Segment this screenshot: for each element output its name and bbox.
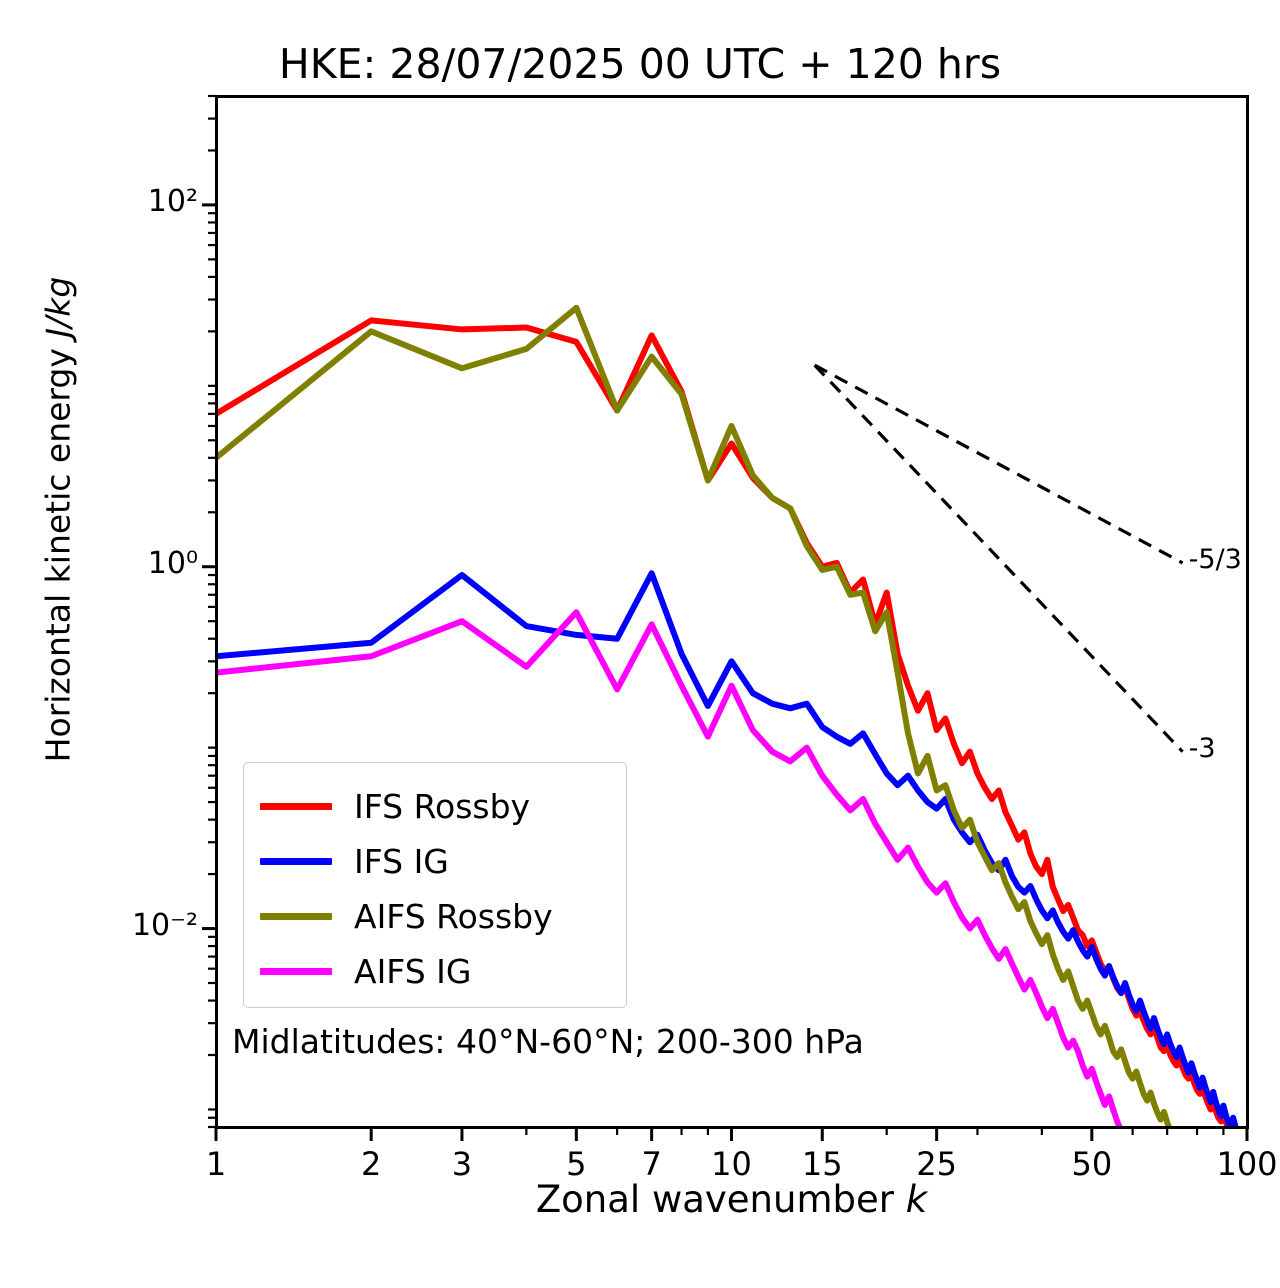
legend-label: AIFS Rossby xyxy=(354,900,553,933)
reference-slope-53 xyxy=(815,365,1183,563)
legend-swatch-icon xyxy=(260,803,332,810)
legend-label: IFS IG xyxy=(354,845,449,878)
x-tick-label: 25 xyxy=(877,1145,997,1183)
legend-label: IFS Rossby xyxy=(354,790,530,823)
reference-slope-3 xyxy=(815,365,1183,751)
x-tick-label: 1 xyxy=(156,1145,276,1183)
series-line-aifs-rossby xyxy=(216,308,1203,1194)
x-tick-label: 15 xyxy=(762,1145,882,1183)
legend-swatch-icon xyxy=(260,913,332,920)
legend-label: AIFS IG xyxy=(354,955,471,988)
x-tick-label: 50 xyxy=(1032,1145,1152,1183)
legend-item-ifs-ig[interactable]: IFS IG xyxy=(244,834,626,889)
slope-3-label: -3 xyxy=(1189,733,1216,764)
legend-swatch-icon xyxy=(260,968,332,975)
y-tick-label: 10² xyxy=(88,184,198,219)
y-tick-label: 10⁻² xyxy=(88,908,198,943)
legend-item-aifs-ig[interactable]: AIFS IG xyxy=(244,944,626,999)
legend-swatch-icon xyxy=(260,858,332,865)
y-tick-label: 10⁰ xyxy=(88,546,198,581)
legend-item-ifs-rossby[interactable]: IFS Rossby xyxy=(244,779,626,834)
reference-slope-lines xyxy=(815,365,1183,751)
x-tick-label: 100 xyxy=(1187,1145,1280,1183)
region-annotation: Midlatitudes: 40°N-60°N; 200-300 hPa xyxy=(232,1022,864,1061)
figure-canvas: HKE: 28/07/2025 00 UTC + 120 hrs Horizon… xyxy=(0,0,1280,1288)
x-tick-label: 3 xyxy=(402,1145,522,1183)
data-series-group xyxy=(216,308,1247,1194)
legend-box[interactable]: IFS RossbyIFS IGAIFS RossbyAIFS IG xyxy=(243,762,627,1008)
legend-item-aifs-rossby[interactable]: AIFS Rossby xyxy=(244,889,626,944)
slope-5-3-label: -5/3 xyxy=(1189,544,1242,575)
